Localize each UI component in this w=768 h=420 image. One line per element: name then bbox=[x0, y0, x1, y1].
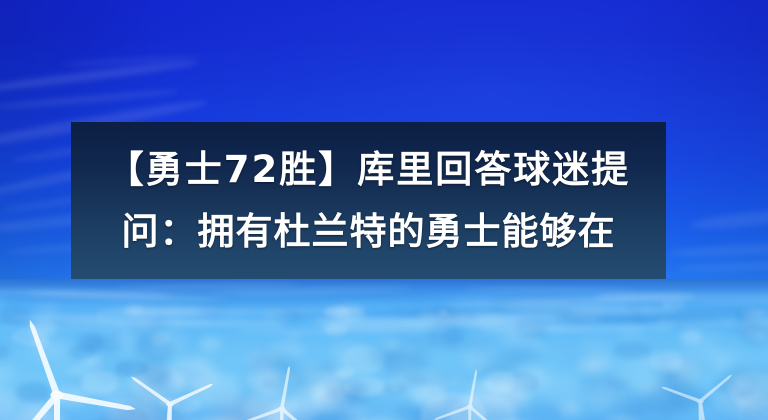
thumbnail-canvas: 【勇士72胜】库里回答球迷提 问：拥有杜兰特的勇士能够在 bbox=[0, 0, 768, 420]
title-line-1: 【勇士72胜】库里回答球迷提 bbox=[107, 139, 631, 201]
cloud-deck bbox=[0, 279, 768, 420]
title-line-2: 问：拥有杜兰特的勇士能够在 bbox=[122, 201, 616, 263]
title-overlay-panel: 【勇士72胜】库里回答球迷提 问：拥有杜兰特的勇士能够在 bbox=[71, 122, 666, 279]
